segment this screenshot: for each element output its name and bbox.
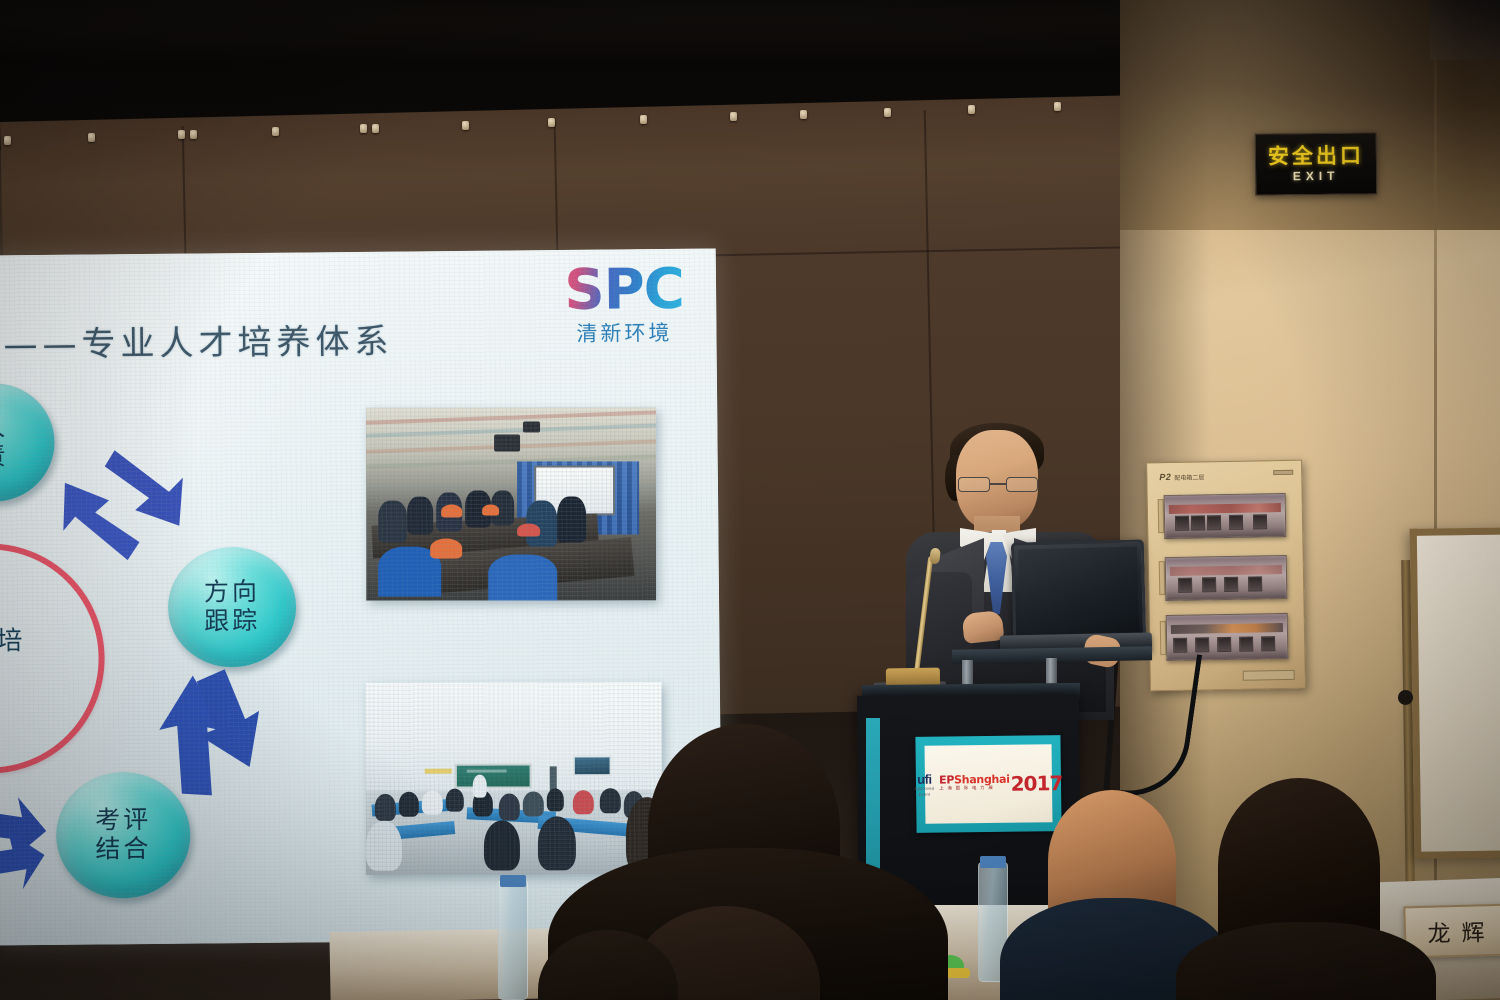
exit-sign-chinese-label: 安全出口 [1268, 145, 1364, 167]
ep-shanghai-wordmark: EPShanghai 上 海 国 际 电 力 展 [939, 774, 1010, 792]
breaker-switch[interactable] [1248, 576, 1262, 591]
ufi-logo: ufi Approved Event [915, 773, 935, 797]
photo-student [546, 788, 564, 811]
photo-figure [378, 500, 407, 542]
breaker-row[interactable] [1165, 555, 1288, 601]
laptop-lid[interactable] [1011, 539, 1146, 638]
wall-stud [884, 108, 891, 117]
photo-safety-helmet [442, 504, 462, 518]
wall-stud [968, 105, 975, 114]
ufi-logo-sub-line1: Approved [915, 787, 935, 791]
wall-stud [190, 130, 197, 139]
wall-stud [730, 112, 737, 121]
photo-safety-helmet [482, 504, 499, 516]
diagram-bubble-direction-label: 方向跟踪 [204, 578, 261, 636]
diagram-arrow-pair-lower-left [0, 785, 50, 901]
podium-event-sign: ufi Approved Event EPShanghai 上 海 国 际 电 … [915, 735, 1061, 833]
photo-student [422, 790, 443, 815]
water-bottle-cap [980, 856, 1006, 868]
spc-logo: SPC 清新环境 [559, 263, 690, 348]
breaker-switch[interactable] [1253, 514, 1267, 529]
panel-tag-bottom-right [1243, 670, 1295, 681]
photo-student [375, 794, 396, 821]
breaker-row[interactable] [1164, 493, 1287, 539]
wall-stud [360, 124, 367, 133]
exit-sign: 安全出口 EXIT [1255, 132, 1378, 195]
photo-student [523, 792, 544, 817]
projection-screen: ——专业人才培养体系 SPC 清新环境 人才培体系 人责 方向跟踪 考评结合 [0, 249, 722, 946]
wall-stud [1054, 102, 1061, 111]
exit-sign-english-label: EXIT [1293, 170, 1340, 182]
ceiling-fixture-dark [1430, 0, 1500, 60]
breaker-switch[interactable] [1229, 515, 1243, 530]
speaker-left-hand [962, 610, 1005, 644]
photo-figure [407, 496, 433, 535]
diagram-arrow-pair-right [153, 663, 264, 804]
photo-student [484, 821, 520, 871]
wall-stud [272, 127, 279, 136]
breaker-label-strip [1169, 503, 1281, 514]
breaker-switch[interactable] [1191, 515, 1205, 530]
wall-stud [548, 118, 555, 127]
panel-id-sublabel: 配电箱二层 [1174, 475, 1204, 482]
breaker-switch[interactable] [1217, 637, 1231, 652]
diagram-bubble-assessment-label: 考评结合 [95, 806, 152, 864]
ufi-logo-sub-line2: Event [919, 792, 931, 796]
breaker-switch[interactable] [1224, 577, 1238, 592]
spc-logo-wordmark: SPC [559, 263, 690, 317]
photo-student [499, 794, 520, 821]
diagram-bubble-top-left-label: 人责 [0, 414, 9, 472]
slide-photo-training-room [366, 407, 656, 600]
podium-event-sign-inner: ufi Approved Event EPShanghai 上 海 国 际 电 … [925, 744, 1053, 824]
water-bottle-cap [500, 875, 526, 887]
breaker-switch[interactable] [1178, 578, 1192, 593]
breaker-switch[interactable] [1195, 637, 1209, 652]
ep-city: Shanghai [954, 773, 1010, 787]
ep-shanghai-logo: EPShanghai 上 海 国 际 电 力 展 2017 [939, 773, 1062, 795]
photo-student [538, 817, 577, 871]
spc-logo-subtitle: 清新环境 [559, 317, 689, 348]
whiteboard [1410, 527, 1500, 859]
photo-presenter [472, 775, 487, 798]
wall-stud [372, 124, 379, 133]
diagram-arrow-pair-upper [57, 442, 188, 568]
breaker-label-strip [1170, 565, 1282, 576]
laptop-screen [1018, 547, 1139, 635]
breaker-label-strip [1171, 623, 1283, 634]
wall-stud [462, 121, 469, 130]
ep-shanghai-year: 2017 [1011, 773, 1063, 794]
breaker-switch[interactable] [1261, 636, 1275, 651]
breaker-switch[interactable] [1207, 515, 1221, 530]
breaker-switch[interactable] [1239, 637, 1253, 652]
glasses-icon [958, 477, 1038, 492]
photo-figure [557, 496, 586, 542]
ep-shanghai-chinese: 上 海 国 际 电 力 展 [939, 786, 1010, 791]
photo-student [573, 790, 594, 815]
slide-photo-classroom [365, 682, 662, 875]
ep-shanghai-title: EPShanghai [939, 774, 1010, 786]
photo-student [600, 788, 621, 813]
panel-id-label: P2 配电箱二层 [1159, 471, 1204, 482]
water-bottle [498, 880, 528, 1000]
diagram-center-label: 人才培体系 [0, 625, 25, 691]
photo-student [366, 821, 402, 871]
panel-tag-top-right [1273, 470, 1293, 475]
wall-stud [800, 110, 807, 119]
wall-stud [88, 133, 95, 142]
photo-student [398, 792, 419, 817]
glasses-right-lens [1006, 477, 1038, 492]
glasses-left-lens [958, 477, 990, 492]
photo-student [446, 788, 464, 811]
presentation-scene: 安全出口 EXIT P2 配电箱二层 [0, 0, 1500, 1000]
attendee-nameplate-text: 龙辉 [1416, 913, 1496, 949]
ep-prefix: EP [939, 773, 954, 786]
breaker-switch[interactable] [1202, 577, 1216, 592]
photo-safety-helmet [517, 523, 540, 537]
glasses-bridge [990, 483, 1006, 485]
photo-safety-helmet [430, 539, 462, 558]
wall-stud [640, 115, 647, 124]
whiteboard-adjust-knob[interactable] [1398, 690, 1413, 705]
ufi-logo-wordmark: ufi [917, 773, 932, 786]
slide-title: ——专业人才培养体系 [3, 313, 433, 366]
wall-stud [4, 136, 11, 145]
breaker-switch[interactable] [1175, 516, 1189, 531]
wall-stud [178, 130, 185, 139]
photo-figure [488, 554, 558, 600]
